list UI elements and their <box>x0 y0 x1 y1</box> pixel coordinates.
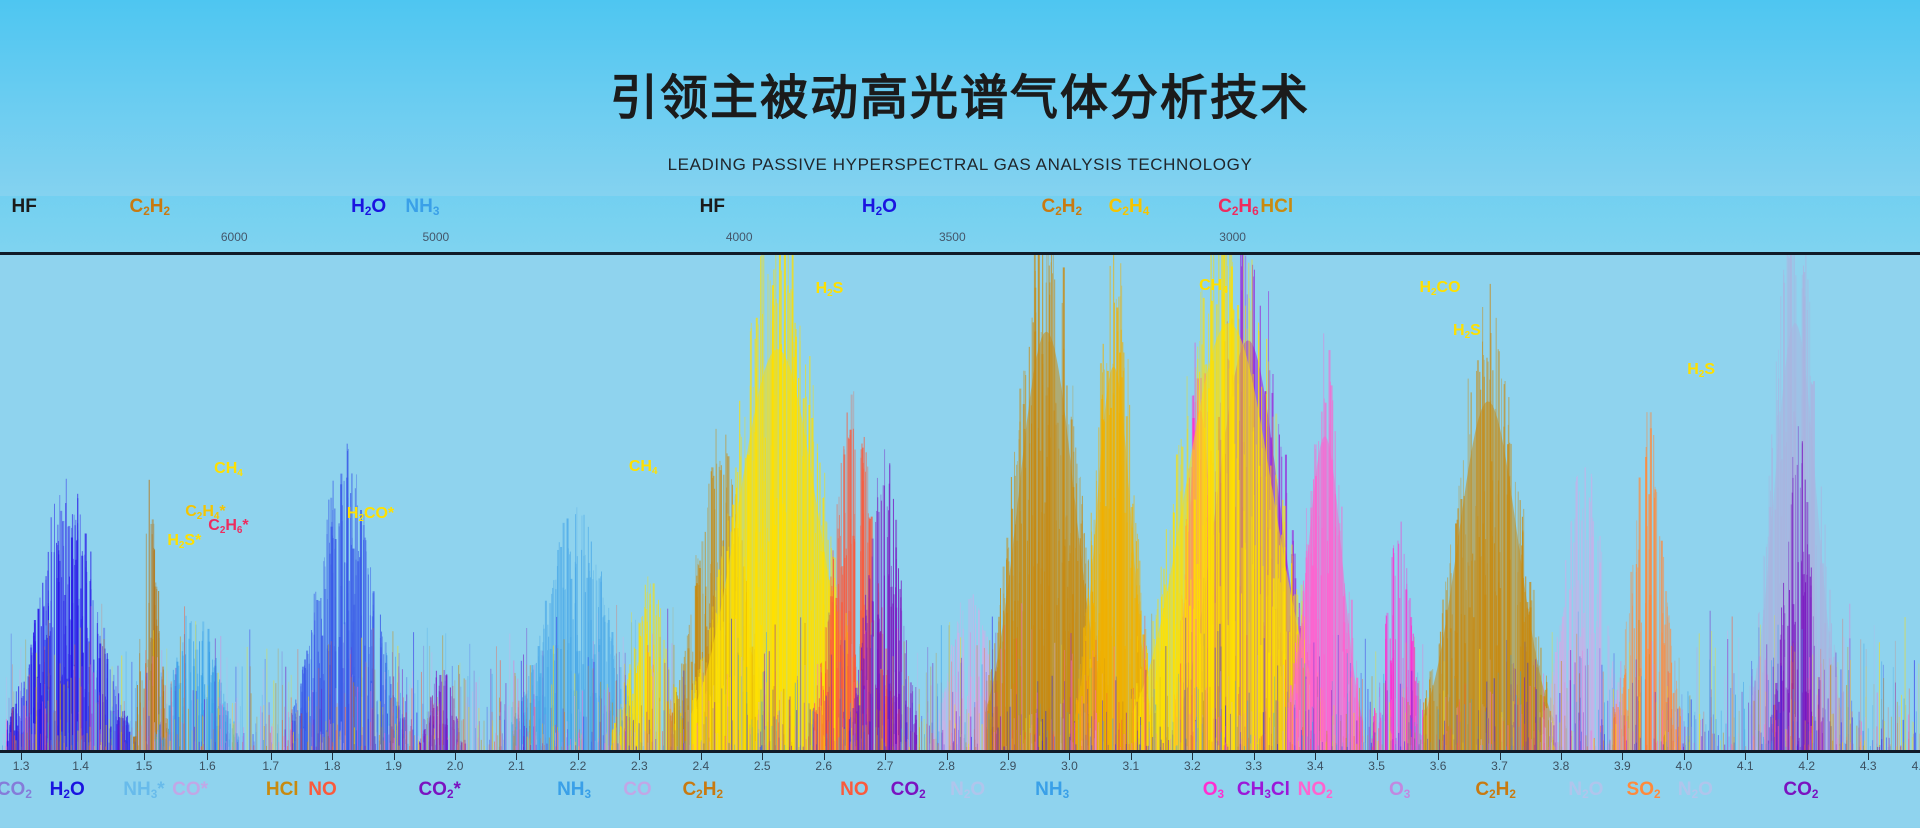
bottom-gas-label-o3-14: O3 <box>1203 779 1224 801</box>
bottom-gas-label-n2o-12: N2O <box>950 779 985 801</box>
top-tick-label-5000: 5000 <box>422 230 449 244</box>
bottom-gas-label-nh3-2: NH3* <box>123 779 164 801</box>
top-gas-label-hcl-9: HCl <box>1260 196 1293 218</box>
bottom-gas-label-c2h2-9: C2H2 <box>682 779 723 801</box>
bottom-tick-label-3.2: 3.2 <box>1184 759 1201 773</box>
page-header: 引领主被动高光谱气体分析技术 LEADING PASSIVE HYPERSPEC… <box>0 0 1920 196</box>
bottom-tick-label-3.3: 3.3 <box>1245 759 1262 773</box>
top-tick-label-3000: 3000 <box>1219 230 1246 244</box>
top-gas-label-hf-0: HF <box>12 196 37 218</box>
bottom-tick-label-2.5: 2.5 <box>754 759 771 773</box>
top-gas-label-c2h6-8: C2H6 <box>1218 196 1259 218</box>
spectrum-traces <box>0 255 1920 750</box>
top-gas-label-nh3-3: NH3 <box>405 196 439 218</box>
bottom-tick-label-1.3: 1.3 <box>13 759 30 773</box>
bottom-tick-label-2.6: 2.6 <box>815 759 832 773</box>
bottom-gas-label-n2o-21: N2O <box>1678 779 1713 801</box>
bottom-tick-label-2.2: 2.2 <box>570 759 587 773</box>
bottom-axis-wavelength: 1.31.41.51.61.71.81.92.02.12.22.32.42.52… <box>0 753 1920 828</box>
bottom-gas-label-no2-16: NO2 <box>1298 779 1333 801</box>
spectrum-plot-area: CH4C2H4*C2H6*H2S*H2CO*CH4H2SCH4H2COH2SH2… <box>0 255 1920 750</box>
bottom-gas-label-n2o-19: N2O <box>1568 779 1603 801</box>
bottom-gas-label-co2-11: CO2 <box>891 779 926 801</box>
bottom-tick-label-4.4: 4.4 <box>1912 759 1920 773</box>
bottom-gas-label-co-8: CO <box>623 779 652 801</box>
bottom-gas-label-h2o-1: H2O <box>50 779 85 801</box>
plot-gas-label-h2s-3: H2S* <box>167 532 201 550</box>
bottom-tick-label-3.1: 3.1 <box>1123 759 1140 773</box>
bottom-tick-label-1.5: 1.5 <box>136 759 153 773</box>
plot-gas-label-h2s-10: H2S <box>1687 361 1715 379</box>
bottom-tick-label-2.7: 2.7 <box>877 759 894 773</box>
top-gas-label-c2h2-6: C2H2 <box>1041 196 1082 218</box>
plot-gas-label-ch4-5: CH4 <box>629 458 658 476</box>
plot-gas-label-c2h6-2: C2H6* <box>208 517 248 535</box>
plot-gas-label-ch4-0: CH4 <box>214 460 243 478</box>
bottom-gas-label-o3-17: O3 <box>1389 779 1410 801</box>
bottom-tick-label-2.3: 2.3 <box>631 759 648 773</box>
bottom-tick-label-3.7: 3.7 <box>1491 759 1508 773</box>
bottom-tick-label-4.1: 4.1 <box>1737 759 1754 773</box>
bottom-gas-label-hcl-4: HCl <box>266 779 299 801</box>
plot-gas-label-h2co-4: H2CO* <box>347 505 394 523</box>
plot-gas-label-h2co-8: H2CO <box>1419 279 1460 297</box>
bottom-gas-label-so2-20: SO2 <box>1627 779 1661 801</box>
bottom-tick-label-3.4: 3.4 <box>1307 759 1324 773</box>
bottom-gas-label-co2-6: CO2* <box>418 779 460 801</box>
top-gas-label-hf-4: HF <box>700 196 725 218</box>
bottom-tick-label-2.4: 2.4 <box>692 759 709 773</box>
bottom-tick-label-2.0: 2.0 <box>447 759 464 773</box>
bottom-gas-label-co-3: CO* <box>172 779 208 801</box>
bottom-gas-label-c2h2-18: C2H2 <box>1475 779 1516 801</box>
bottom-tick-label-3.5: 3.5 <box>1368 759 1385 773</box>
bottom-tick-label-4.3: 4.3 <box>1860 759 1877 773</box>
bottom-tick-label-2.8: 2.8 <box>938 759 955 773</box>
page-subtitle: LEADING PASSIVE HYPERSPECTRAL GAS ANALYS… <box>0 155 1920 175</box>
bottom-tick-label-3.8: 3.8 <box>1553 759 1570 773</box>
bottom-tick-label-1.6: 1.6 <box>199 759 216 773</box>
bottom-gas-label-co2-22: CO2 <box>1783 779 1818 801</box>
top-tick-label-3500: 3500 <box>939 230 966 244</box>
top-tick-label-6000: 6000 <box>221 230 248 244</box>
bottom-gas-label-ch3cl-15: CH3Cl <box>1237 779 1290 801</box>
top-axis-wavenumber: 60005000400035003000 <box>0 230 1920 252</box>
top-tick-label-4000: 4000 <box>726 230 753 244</box>
bottom-tick-label-4.0: 4.0 <box>1675 759 1692 773</box>
bottom-gas-label-co2-0: CO2 <box>0 779 32 801</box>
bottom-tick-label-4.2: 4.2 <box>1798 759 1815 773</box>
bottom-gas-label-nh3-13: NH3 <box>1035 779 1069 801</box>
top-gas-label-c2h4-7: C2H4 <box>1109 196 1150 218</box>
bottom-tick-label-1.7: 1.7 <box>262 759 279 773</box>
bottom-tick-label-2.1: 2.1 <box>508 759 525 773</box>
bottom-tick-label-1.8: 1.8 <box>324 759 341 773</box>
top-gas-label-c2h2-1: C2H2 <box>129 196 170 218</box>
plot-gas-label-h2s-6: H2S <box>816 280 844 298</box>
bottom-gas-label-nh3-7: NH3 <box>557 779 591 801</box>
top-gas-label-h2o-5: H2O <box>862 196 897 218</box>
plot-gas-label-ch4-7: CH4 <box>1199 277 1228 295</box>
bottom-tick-label-1.9: 1.9 <box>385 759 402 773</box>
plot-gas-label-h2s-9: H2S <box>1453 322 1481 340</box>
bottom-tick-label-3.6: 3.6 <box>1430 759 1447 773</box>
bottom-tick-label-1.4: 1.4 <box>72 759 89 773</box>
bottom-gas-label-no-5: NO <box>308 779 337 801</box>
bottom-tick-label-3.9: 3.9 <box>1614 759 1631 773</box>
bottom-tick-label-2.9: 2.9 <box>1000 759 1017 773</box>
top-gas-label-h2o-2: H2O <box>351 196 386 218</box>
bottom-tick-label-3.0: 3.0 <box>1061 759 1078 773</box>
bottom-gas-label-no-10: NO <box>840 779 869 801</box>
page-title: 引领主被动高光谱气体分析技术 <box>0 58 1920 128</box>
